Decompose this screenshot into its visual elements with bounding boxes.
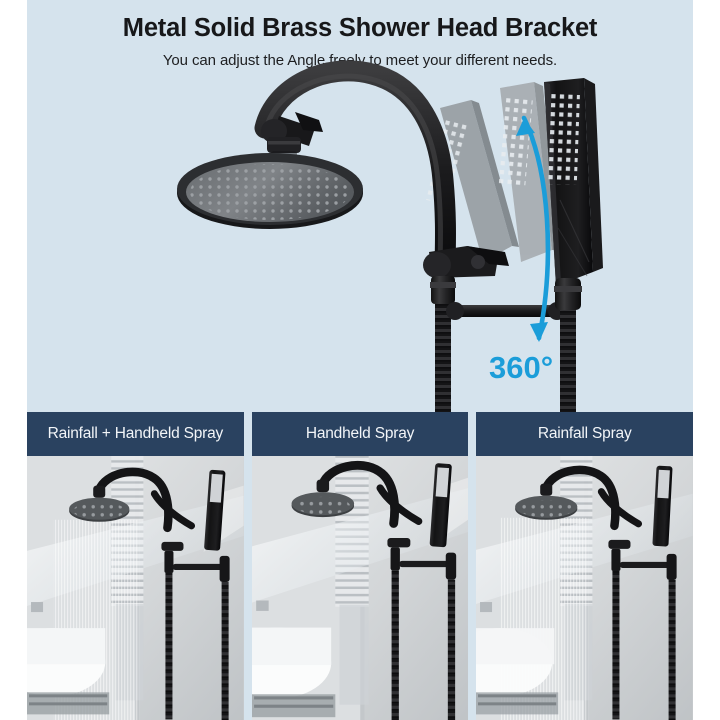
mode-panel-row: Rainfall + Handheld Spray: [27, 412, 693, 720]
mode-panel-rainfall[interactable]: Rainfall Spray: [476, 412, 693, 720]
mode-panel-handheld[interactable]: Handheld Spray: [252, 412, 469, 720]
rainfall-shower-head: [177, 153, 363, 229]
right-riser-pipe: [554, 278, 582, 412]
panel-label-rainfall: Rainfall Spray: [476, 412, 693, 456]
hero-product-illustration: 360°: [27, 0, 693, 412]
panel-label-rainfall-handheld: Rainfall + Handheld Spray: [27, 412, 244, 456]
panel-label-handheld: Handheld Spray: [252, 412, 469, 456]
rotation-badge-label: 360°: [489, 350, 553, 385]
panel-photo-handheld: [252, 456, 469, 720]
left-riser-pipe: [430, 276, 456, 412]
horizontal-cross-bar: [446, 302, 566, 320]
panel-photo-rainfall-handheld: [27, 456, 244, 720]
panel-photo-rainfall: [476, 456, 693, 720]
infographic-page: Metal Solid Brass Shower Head Bracket Yo…: [0, 0, 720, 720]
handheld-spray-wand: [544, 78, 603, 286]
mode-panel-rainfall-handheld[interactable]: Rainfall + Handheld Spray: [27, 412, 244, 720]
hero-section: Metal Solid Brass Shower Head Bracket Yo…: [27, 0, 693, 412]
